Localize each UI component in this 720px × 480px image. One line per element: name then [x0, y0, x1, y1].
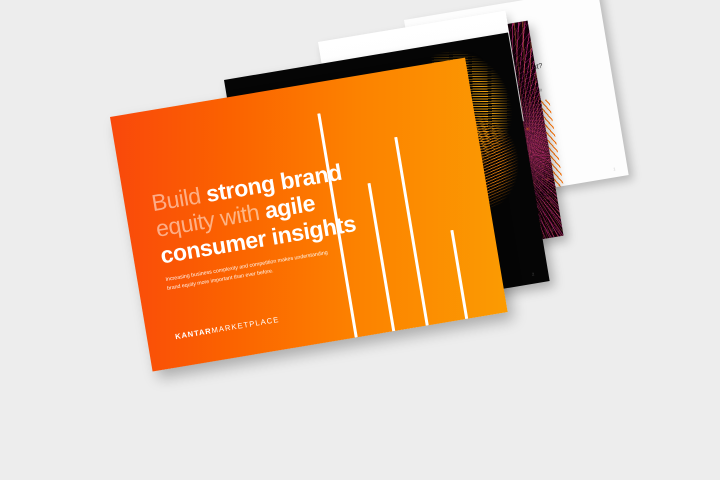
chart-bar — [450, 230, 468, 320]
kantar-marketplace-logo: KANTARMARKETPLACE — [174, 315, 280, 341]
chart-bar — [368, 183, 396, 331]
black-slide-page-number: 2 — [532, 271, 535, 276]
chart-bar — [394, 137, 429, 326]
logo-marketplace: MARKETPLACE — [211, 315, 280, 335]
rear-slide-page-number: 1 — [613, 166, 616, 171]
slide-stack-scene: What makes Kantar Marketplace different?… — [0, 0, 720, 480]
slide-cover-build-strong-brand-equity[interactable]: Build strong brand equity with agile con… — [110, 58, 508, 372]
logo-kantar: KANTAR — [174, 326, 212, 341]
